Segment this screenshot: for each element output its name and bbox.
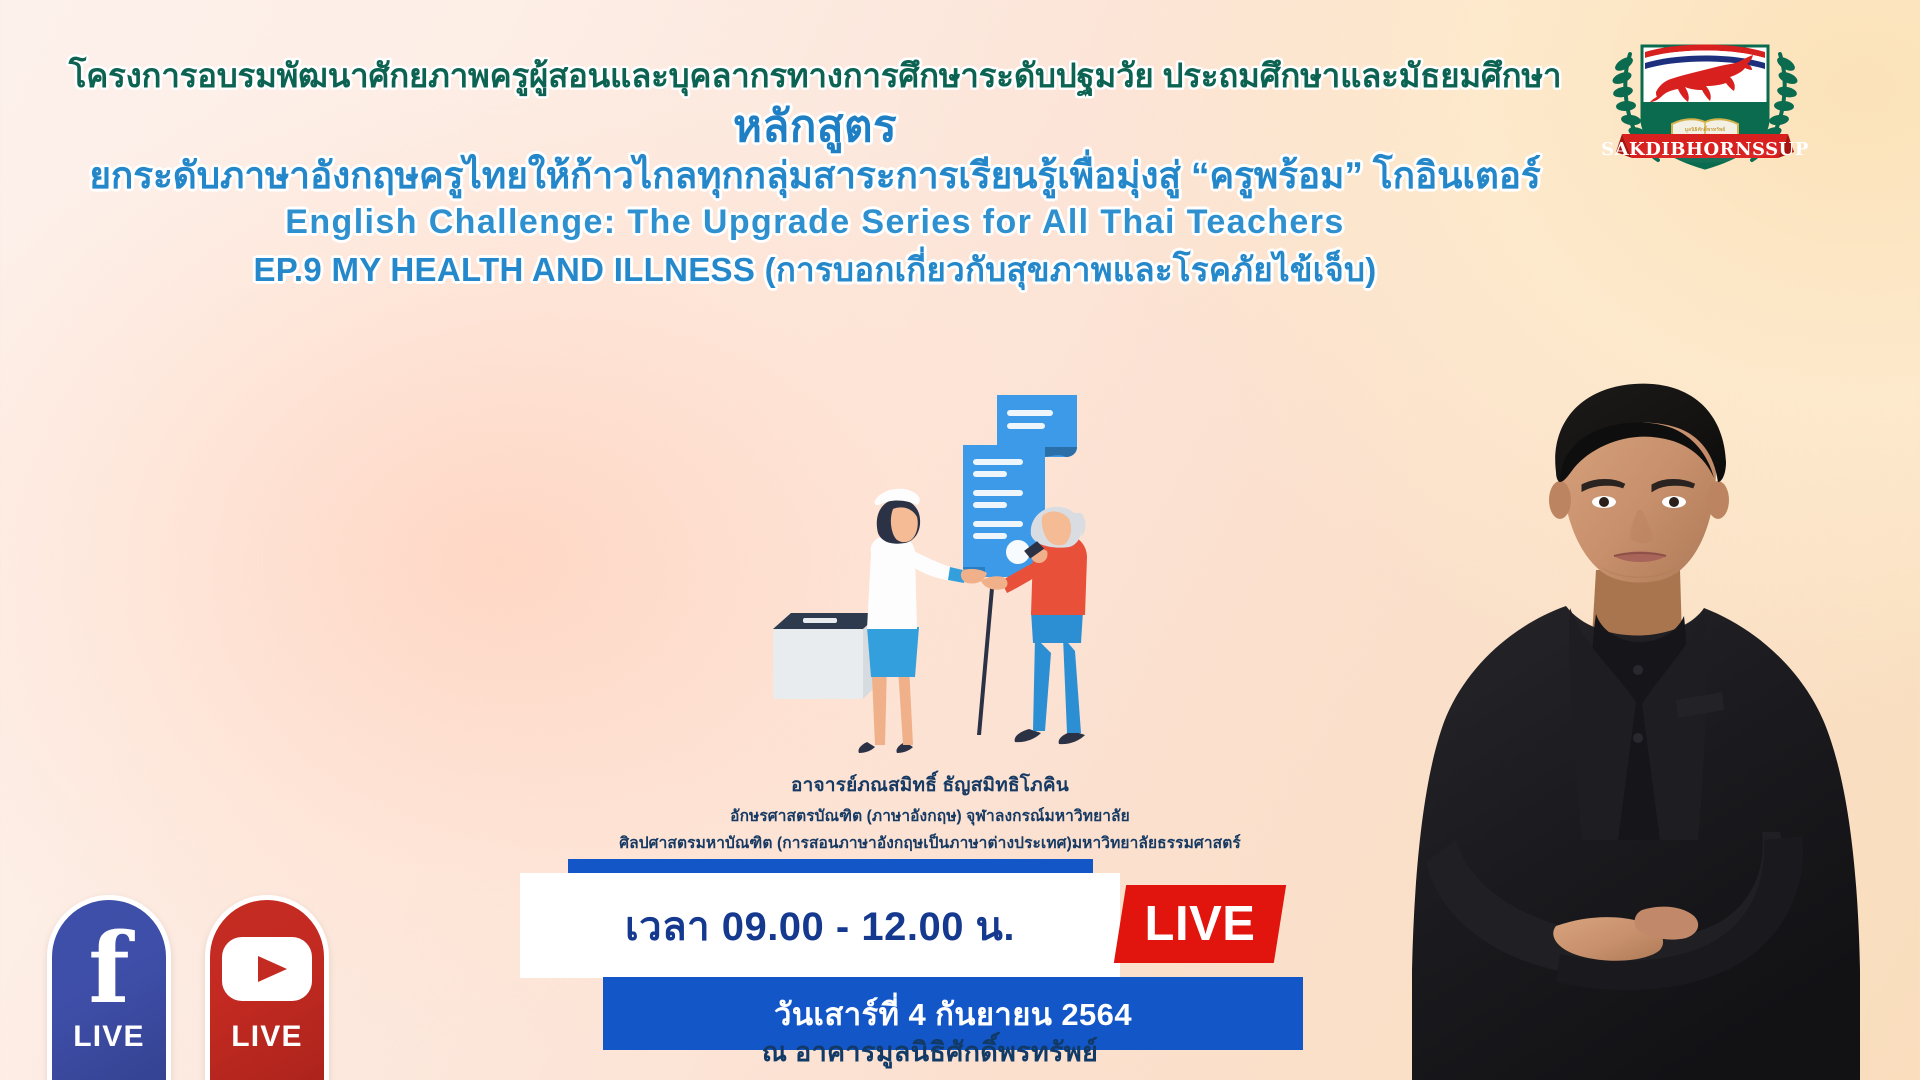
book-line-1: มูลนิธิศักดิ์พรทรัพย์ <box>1685 125 1726 133</box>
headline-line-4-course-title-english: English Challenge: The Upgrade Series fo… <box>0 203 1630 241</box>
facebook-f-icon: f <box>88 922 129 1016</box>
schedule-banner: เวลา 09.00 - 12.00 น. LIVE วันเสาร์ที่ 4… <box>520 855 1330 1015</box>
youtube-live-label: LIVE <box>231 1020 302 1054</box>
time-text: เวลา 09.00 - 12.00 น. <box>625 894 1015 958</box>
headline-block: โครงการอบรมพัฒนาศักยภาพครูผู้สอนและบุคลา… <box>0 58 1630 289</box>
tripod-pole <box>977 577 995 735</box>
ribbon: SAKDIBHORNSSUP <box>1601 134 1809 163</box>
headline-line-5-episode-title: EP.9 MY HEALTH AND ILLNESS (การบอกเกี่ยว… <box>0 252 1630 289</box>
time-box: เวลา 09.00 - 12.00 น. <box>520 873 1120 978</box>
live-badge-label: LIVE <box>1120 885 1280 963</box>
speaker-credentials: อาจารย์ภณสมิทธิ์ ธัญสมิทธิโภคิน อักษรศาส… <box>355 770 1505 855</box>
facebook-live-label: LIVE <box>73 1020 144 1054</box>
speaker-degree-2: ศิลปศาสตรมหาบัณฑิต (การสอนภาษาอังกฤษเป็น… <box>355 830 1505 855</box>
facebook-live-badge[interactable]: f LIVE <box>47 895 171 1080</box>
social-live-badges: f LIVE LIVE <box>45 895 375 1080</box>
live-badge: LIVE <box>1114 885 1286 963</box>
headline-line-1: โครงการอบรมพัฒนาศักยภาพครูผู้สอนและบุคลา… <box>0 58 1630 95</box>
ribbon-text: SAKDIBHORNSSUP <box>1601 139 1809 160</box>
sakdibhornssup-logo: มูลนิธิศักดิ์พรทรัพย์ พัฒนาการศึกษาไทย เ… <box>1600 12 1810 182</box>
ballot-box <box>773 613 881 699</box>
youtube-live-badge[interactable]: LIVE <box>205 895 329 1080</box>
headline-line-3-course-title-thai: ยกระดับภาษาอังกฤษครูไทยให้ก้าวไกลทุกกลุ่… <box>0 155 1630 196</box>
youtube-play-icon <box>221 922 313 1016</box>
speaker-degree-1: อักษรศาสตรบัณฑิต (ภาษาอังกฤษ) จุฬาลงกรณ์… <box>355 803 1505 828</box>
checklist-illustration <box>745 385 1165 770</box>
poster-canvas: มูลนิธิศักดิ์พรทรัพย์ พัฒนาการศึกษาไทย เ… <box>0 0 1920 1080</box>
speaker-portrait <box>1360 370 1920 1080</box>
speaker-name: อาจารย์ภณสมิทธิ์ ธัญสมิทธิโภคิน <box>355 770 1505 800</box>
headline-line-2-course-label: หลักสูตร <box>0 102 1630 151</box>
venue-text: ณ อาคารมูลนิธิศักดิ์พรทรัพย์ <box>400 1030 1460 1073</box>
